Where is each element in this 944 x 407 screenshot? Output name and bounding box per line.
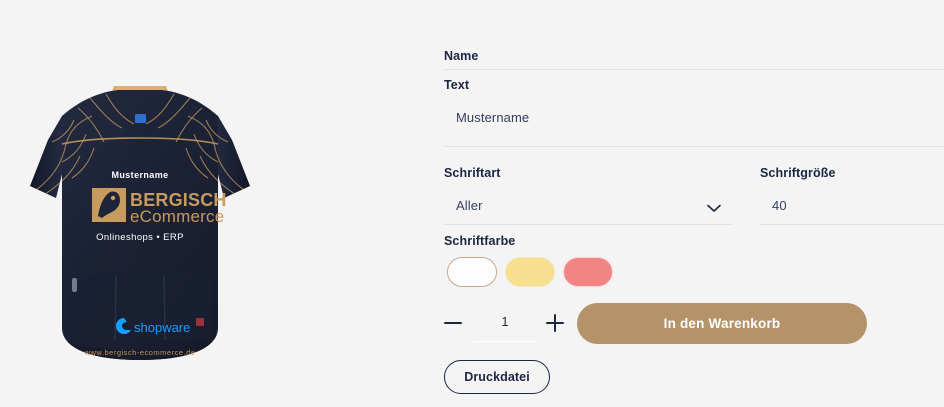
quantity-decrease-button[interactable] [442, 312, 464, 334]
label-text: Text [444, 78, 469, 92]
jersey-brand-tagline: Onlineshops • ERP [96, 232, 184, 243]
print-file-button[interactable]: Druckdatei [444, 360, 550, 394]
color-swatch-white[interactable] [447, 257, 497, 287]
product-image-jersey[interactable]: Mustername BERGISCH eCommerce Onlineshop… [18, 78, 262, 372]
svg-text:shopware: shopware [134, 320, 190, 335]
jersey-illustration: Mustername BERGISCH eCommerce Onlineshop… [18, 78, 262, 372]
product-gallery: Mustername BERGISCH eCommerce Onlineshop… [0, 0, 420, 407]
quantity-input[interactable] [472, 315, 538, 329]
color-swatch-yellow[interactable] [505, 257, 555, 287]
text-input[interactable] [456, 110, 876, 125]
section-header-name: Name [444, 49, 944, 63]
quantity-underline [474, 341, 536, 342]
divider-below-name [444, 69, 944, 70]
font-size-input[interactable] [772, 198, 932, 213]
font-family-underline [444, 224, 732, 225]
label-schriftfarbe: Schriftfarbe [444, 234, 515, 248]
jersey-brand-line2: eCommerce [130, 207, 224, 226]
product-configuration-panel: Name Text Schriftart Aller Schriftgröße … [444, 0, 944, 407]
divider-below-text [444, 146, 944, 147]
product-configurator-page: Mustername BERGISCH eCommerce Onlineshop… [0, 0, 944, 407]
chevron-down-icon[interactable] [707, 200, 721, 209]
label-schriftgroesse: Schriftgröße [760, 166, 836, 180]
font-family-select-value[interactable]: Aller [456, 198, 716, 213]
label-schriftart: Schriftart [444, 166, 501, 180]
font-size-underline [760, 224, 944, 225]
jersey-hem-url: www.bergisch-ecommerce.de [84, 348, 196, 357]
quantity-increase-button[interactable] [544, 312, 566, 334]
add-to-cart-button[interactable]: In den Warenkorb [577, 303, 867, 344]
color-swatch-red[interactable] [563, 257, 613, 287]
jersey-print-name: Mustername [111, 170, 168, 180]
